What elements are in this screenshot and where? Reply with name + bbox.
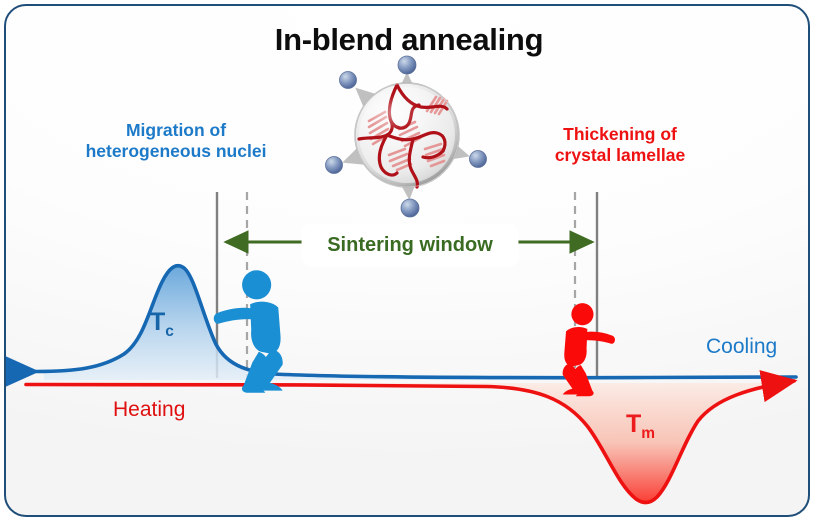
annotation-migration-line1: Migration of [58,120,294,141]
annotation-thickening-line2: crystal lamellae [506,145,734,166]
annotation-migration: Migration of heterogeneous nuclei [58,120,294,163]
guide-lines [217,192,597,380]
crystal-network [359,85,447,187]
heterogeneous-nuclei [326,56,487,217]
tc-symbol: T [150,308,165,336]
polymer-particle [326,56,487,217]
crystal-lamellae [369,97,447,170]
annotation-thickening: Thickening of crystal lamellae [506,124,734,167]
cooling-label: Cooling [706,335,777,359]
red-person-icon [563,303,615,396]
annotation-thickening-line1: Thickening of [506,124,734,145]
tc-subscript: c [165,323,174,340]
tm-symbol: T [626,410,641,438]
figure-root: In-blend annealing Migration of heteroge… [0,0,814,521]
blue-person-icon [214,270,283,393]
tm-subscript: m [641,425,655,442]
sintering-window-label: Sintering window [327,234,493,257]
tc-peak-label: Tc [150,308,174,337]
migration-arrows [347,77,465,195]
tm-peak-label: Tm [626,410,655,439]
heating-label: Heating [113,398,185,422]
sintering-window-badge: Sintering window [302,224,518,266]
annotation-migration-line2: heterogeneous nuclei [58,141,294,162]
page-title: In-blend annealing [6,22,810,58]
figure-card: In-blend annealing Migration of heteroge… [4,4,810,517]
